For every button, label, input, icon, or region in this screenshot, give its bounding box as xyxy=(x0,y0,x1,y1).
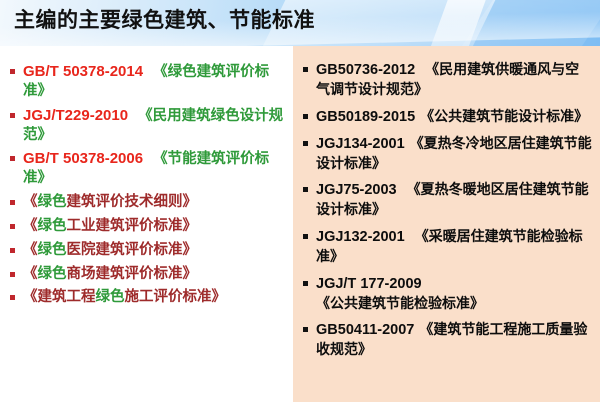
standard-name-green-part: 绿色 xyxy=(38,266,67,282)
square-bullet-icon xyxy=(10,113,15,118)
list-item: GB50189-2015《公共建筑节能设计标准》 xyxy=(301,107,592,127)
standard-code: JGJ75-2003 xyxy=(316,182,397,198)
standard-code: JGJ/T 177-2009 xyxy=(316,276,422,292)
standard-code: GB50736-2012 xyxy=(316,62,415,78)
square-bullet-icon xyxy=(303,187,308,192)
square-bullet-icon xyxy=(10,69,15,74)
square-bullet-icon xyxy=(10,248,15,253)
square-bullet-icon xyxy=(303,141,308,146)
square-bullet-icon xyxy=(10,272,15,277)
square-bullet-icon xyxy=(10,295,15,300)
square-bullet-icon xyxy=(303,114,308,119)
standard-name: 《绿色建筑评价技术细则》 xyxy=(23,194,197,210)
standard-code: JGJ132-2001 xyxy=(316,229,405,245)
list-item: 《绿色建筑评价技术细则》 xyxy=(8,193,287,212)
standard-code: JGJ134-2001 xyxy=(316,136,405,152)
standard-name-green-part: 绿色 xyxy=(38,218,67,234)
list-item: GB50411-2007《建筑节能工程施工质量验收规范》 xyxy=(301,320,592,360)
standard-code: GB50411-2007 xyxy=(316,322,414,338)
list-item: 《绿色医院建筑评价标准》 xyxy=(8,241,287,260)
square-bullet-icon xyxy=(10,224,15,229)
standard-name: 《公共建筑节能设计标准》 xyxy=(420,109,588,125)
list-item: JGJ/T 177-2009《公共建筑节能检验标准》 xyxy=(301,274,592,314)
left-standards-column: GB/T 50378-2014《绿色建筑评价标准》 JGJ/T229-2010《… xyxy=(0,46,293,402)
list-item: JGJ132-2001《采暖居住建筑节能检验标准》 xyxy=(301,227,592,267)
square-bullet-icon xyxy=(10,156,15,161)
list-item: JGJ/T229-2010《民用建筑绿色设计规范》 xyxy=(8,106,287,145)
page-title: 主编的主要绿色建筑、节能标准 xyxy=(14,4,315,34)
list-item: 《建筑工程绿色施工评价标准》 xyxy=(8,288,287,307)
standard-name-green-part: 绿色 xyxy=(38,194,67,210)
square-bullet-icon xyxy=(10,200,15,205)
list-item: JGJ134-2001《夏热冬冷地区居住建筑节能设计标准》 xyxy=(301,134,592,174)
right-standards-panel: GB50736-2012《民用建筑供暖通风与空气调节设计规范》 GB50189-… xyxy=(293,46,600,402)
standard-code: GB/T 50378-2006 xyxy=(23,150,143,167)
list-item: GB/T 50378-2014《绿色建筑评价标准》 xyxy=(8,62,287,101)
standard-code: GB50189-2015 xyxy=(316,109,415,125)
standard-name: 《绿色工业建筑评价标准》 xyxy=(23,218,197,234)
list-item: 《绿色工业建筑评价标准》 xyxy=(8,217,287,236)
standard-name: 《绿色医院建筑评价标准》 xyxy=(23,242,197,258)
square-bullet-icon xyxy=(303,234,308,239)
square-bullet-icon xyxy=(303,327,308,332)
standard-name-green-part: 绿色 xyxy=(38,242,67,258)
standard-name-green-part: 绿色 xyxy=(96,289,125,305)
left-standards-list: GB/T 50378-2014《绿色建筑评价标准》 JGJ/T229-2010《… xyxy=(8,62,287,307)
standard-name: 《建筑工程绿色施工评价标准》 xyxy=(23,289,226,305)
slide-body: GB/T 50378-2014《绿色建筑评价标准》 JGJ/T229-2010《… xyxy=(0,46,600,402)
list-item: JGJ75-2003《夏热冬暖地区居住建筑节能设计标准》 xyxy=(301,180,592,220)
right-standards-list: GB50736-2012《民用建筑供暖通风与空气调节设计规范》 GB50189-… xyxy=(301,60,592,360)
standard-name: 《绿色商场建筑评价标准》 xyxy=(23,266,197,282)
list-item: 《绿色商场建筑评价标准》 xyxy=(8,265,287,284)
list-item: GB50736-2012《民用建筑供暖通风与空气调节设计规范》 xyxy=(301,60,592,100)
list-item: GB/T 50378-2006《节能建筑评价标准》 xyxy=(8,149,287,188)
standard-name: 《公共建筑节能检验标准》 xyxy=(316,296,484,312)
square-bullet-icon xyxy=(303,67,308,72)
standard-code: JGJ/T229-2010 xyxy=(23,107,128,124)
square-bullet-icon xyxy=(303,281,308,286)
standard-code: GB/T 50378-2014 xyxy=(23,63,143,80)
